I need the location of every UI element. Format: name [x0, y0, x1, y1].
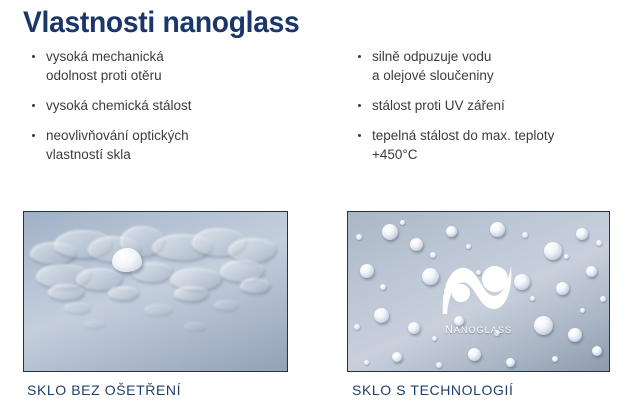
untreated-glass-photo-inner — [24, 212, 287, 371]
feature-text: vysoká chemická stálost — [46, 96, 330, 115]
treated-glass-photo-inner: Nanoglass — [348, 212, 609, 371]
page-title: Vlastnosti nanoglass — [23, 5, 299, 41]
water-droplet-icon — [112, 248, 142, 272]
caption-untreated-glass: SKLO BEZ OŠETŘENÍ — [27, 382, 181, 398]
caption-treated-glass: SKLO S TECHNOLOGIÍ — [352, 382, 513, 398]
features-columns: vysoká mechanická odolnost proti otěru v… — [0, 47, 637, 187]
bullet-dot-icon — [32, 55, 35, 58]
bullet-dot-icon — [32, 134, 35, 137]
features-column-right: silně odpuzuje vodu a olejové sloučeniny… — [356, 47, 631, 164]
slide-root: Vlastnosti nanoglass vysoká mechanická o… — [0, 0, 637, 412]
list-item: stálost proti UV záření — [356, 96, 631, 115]
bullet-dot-icon — [32, 104, 35, 107]
feature-text: stálost proti UV záření — [372, 96, 631, 115]
feature-list-left: vysoká mechanická odolnost proti otěru v… — [30, 47, 330, 164]
feature-text: tepelná stálost do max. teploty +450°C — [372, 126, 631, 164]
list-item: silně odpuzuje vodu a olejové sloučeniny — [356, 47, 631, 85]
list-item: neovlivňování optických vlastností skla — [30, 126, 330, 164]
list-item: tepelná stálost do max. teploty +450°C — [356, 126, 631, 164]
features-column-left: vysoká mechanická odolnost proti otěru v… — [30, 47, 330, 164]
bullet-dot-icon — [358, 55, 361, 58]
untreated-glass-photo — [23, 211, 288, 372]
feature-list-right: silně odpuzuje vodu a olejové sloučeniny… — [356, 47, 631, 164]
bullet-dot-icon — [358, 104, 361, 107]
feature-text: neovlivňování optických vlastností skla — [46, 126, 330, 164]
feature-text: vysoká mechanická odolnost proti otěru — [46, 47, 330, 85]
list-item: vysoká mechanická odolnost proti otěru — [30, 47, 330, 85]
nanoglass-treated-glass-photo: Nanoglass — [347, 211, 610, 372]
bullet-dot-icon — [358, 134, 361, 137]
list-item: vysoká chemická stálost — [30, 96, 330, 115]
feature-text: silně odpuzuje vodu a olejové sloučeniny — [372, 47, 631, 85]
